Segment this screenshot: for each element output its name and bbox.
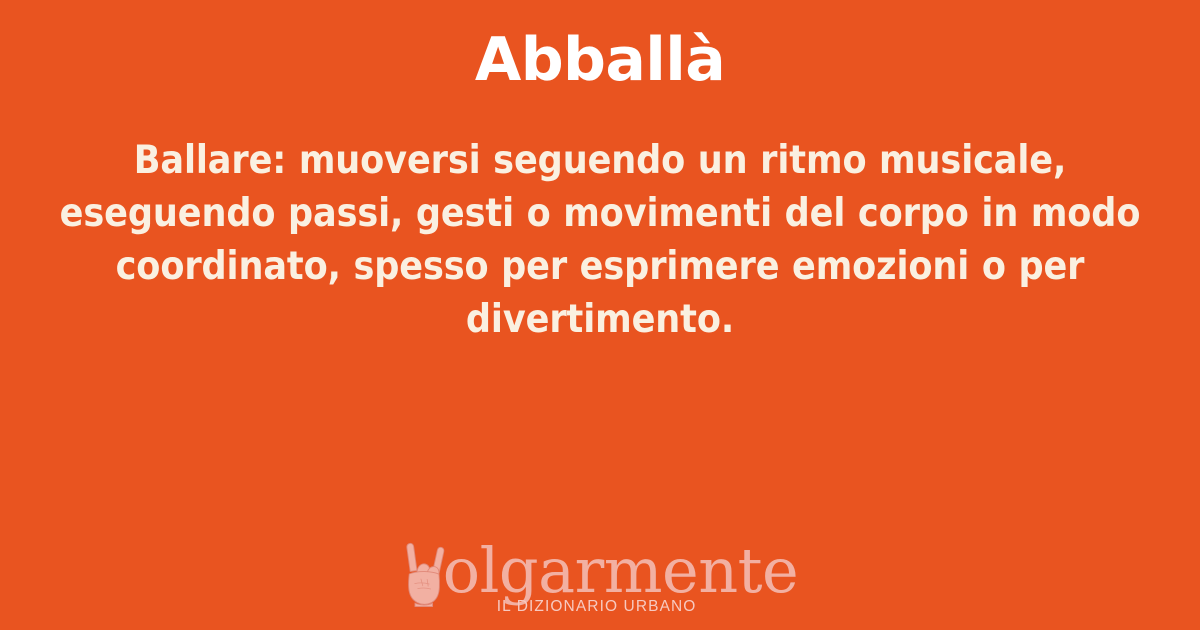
brand-wordmark: olgarmente (443, 540, 798, 602)
definition-block: Ballare: muoversi seguendo un ritmo musi… (53, 134, 1147, 346)
page-title: Abballà (0, 28, 1200, 93)
definition-card: Abballà Ballare: muoversi seguendo un ri… (0, 0, 1200, 630)
brand-tagline: IL DIZIONARIO URBANO (497, 599, 697, 615)
brand-logo[interactable]: olgarmente IL DIZIONARIO URBANO (402, 534, 798, 608)
definition-text: Ballare: muoversi seguendo un ritmo musi… (53, 134, 1147, 346)
sign-of-the-horns-hand-icon (402, 541, 448, 607)
title-block: Abballà (0, 28, 1200, 93)
wordmark-wrap: olgarmente IL DIZIONARIO URBANO (443, 540, 798, 608)
